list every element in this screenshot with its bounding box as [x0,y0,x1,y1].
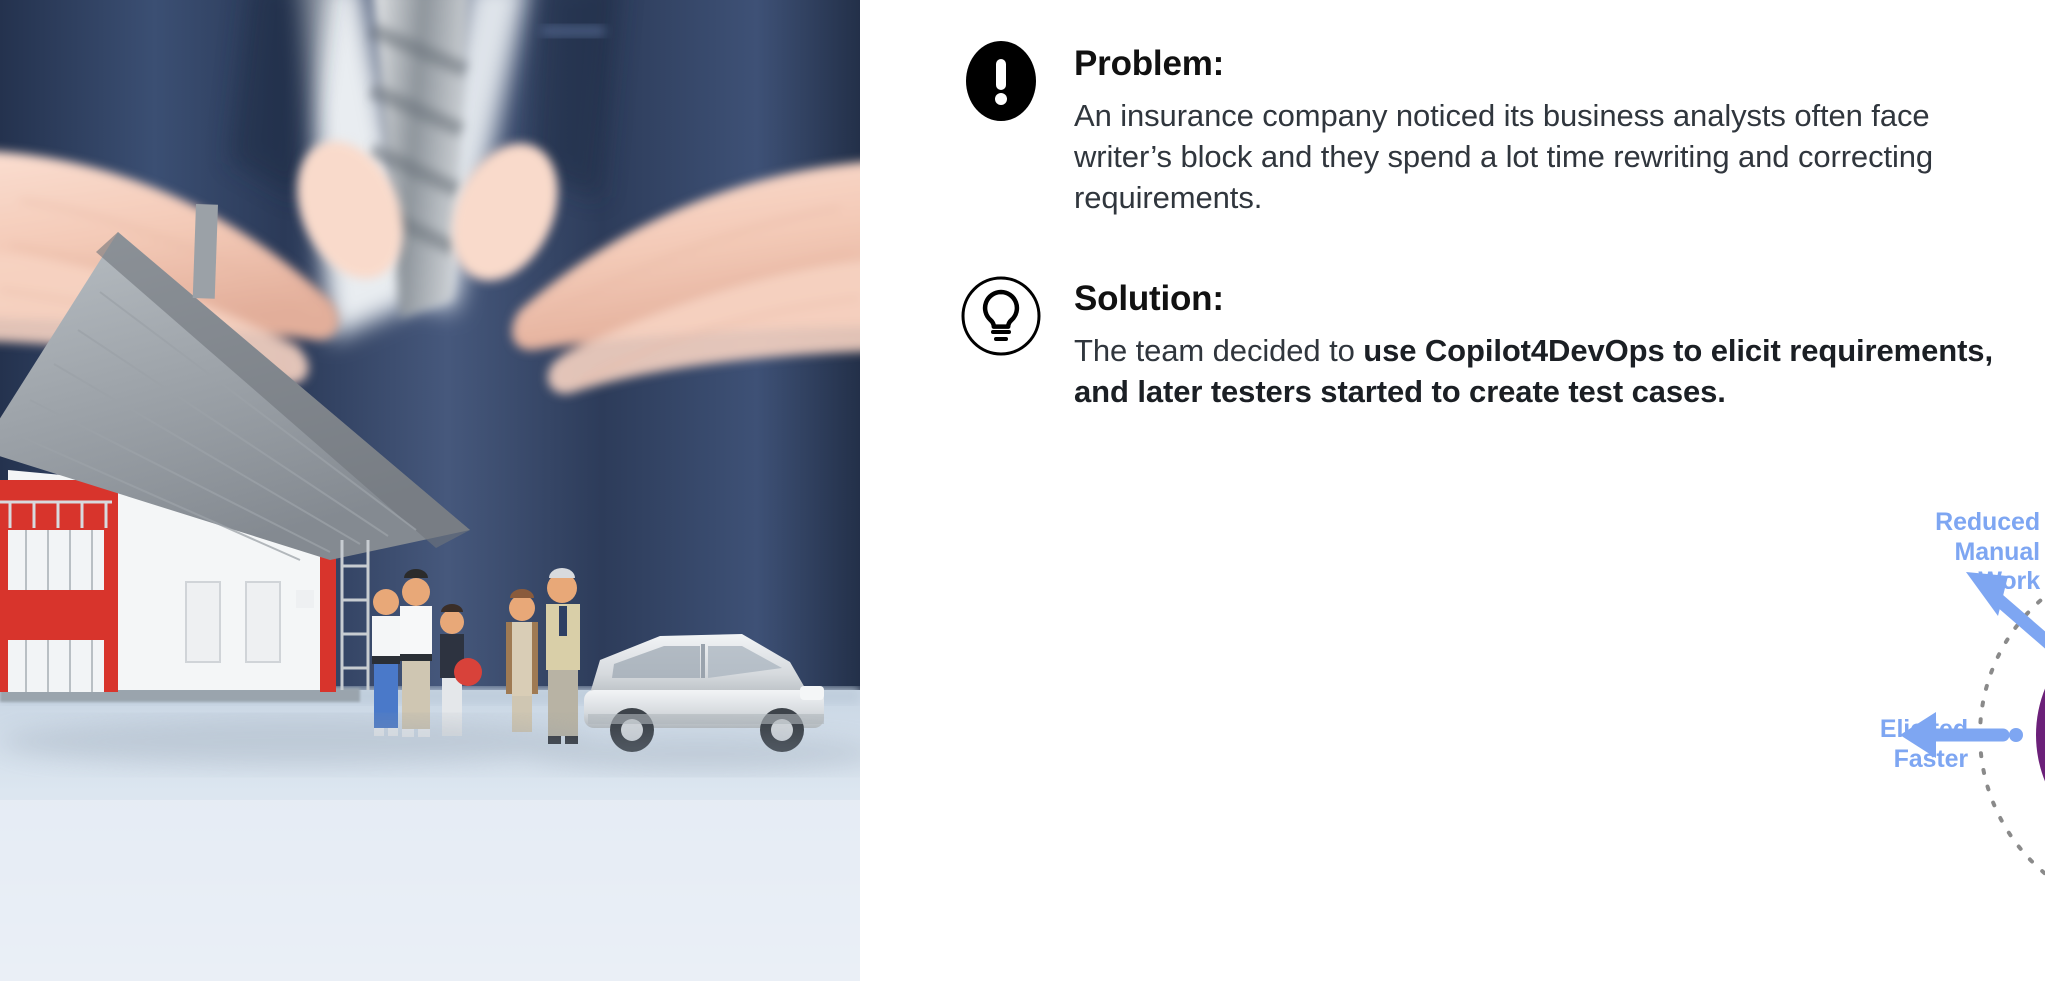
exclamation-badge-icon [960,40,1042,122]
center-circle [2036,611,2045,859]
problem-title: Problem: [1074,46,2000,83]
photo-illustration [0,0,860,981]
content-panel: Problem: An insurance company noticed it… [860,0,2045,981]
slide-root: Problem: An insurance company noticed it… [0,0,2045,981]
solution-text: The team decided to use Copilot4DevOps t… [1074,330,2000,412]
value-wheel-diagram: Increased Quality Reduced Manual Work El… [1870,430,2045,981]
diagram-label-reduced-manual-work: Reduced Manual Work [1850,508,2040,597]
problem-text: An insurance company noticed its busines… [1074,95,2000,219]
solution-title: Solution: [1074,281,2000,318]
diagram-label-elicited-faster: Elicited Faster [1788,715,1968,774]
lightbulb-icon [960,275,1042,357]
diagram-label-increased-quality: Increased Quality [2032,418,2045,477]
insurance-protection-photo [0,0,860,981]
solution-block: Solution: The team decided to use Copilo… [960,275,2000,412]
spoke-dot-left [2009,728,2023,742]
solution-text-plain: The team decided to [1074,333,1363,368]
problem-block: Problem: An insurance company noticed it… [960,40,2000,218]
problem-body: Problem: An insurance company noticed it… [1074,40,2000,218]
solution-body: Solution: The team decided to use Copilo… [1074,275,2000,412]
